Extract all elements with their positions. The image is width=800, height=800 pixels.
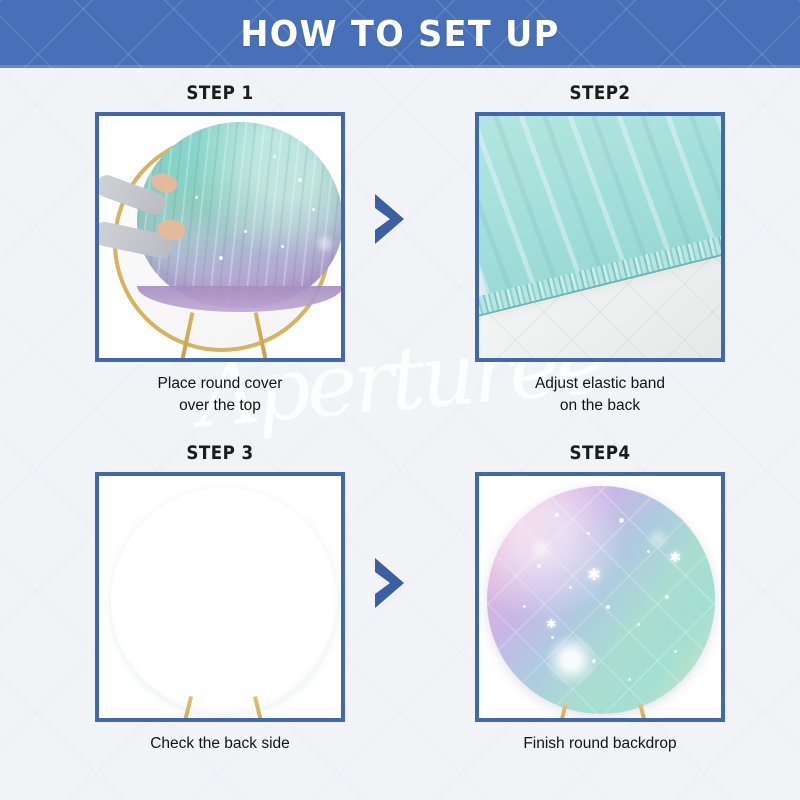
photo-finished-round-backdrop: ✱ ✱ ✱ [479, 476, 721, 718]
star-glint-icon: ✱ [587, 568, 600, 584]
step-title-1: STEP 1 [88, 82, 352, 104]
infographic-page: HOW TO SET UP Aperturee STEP 1 [0, 0, 800, 800]
gradient-fabric-cover [137, 122, 341, 308]
light-glow [545, 634, 597, 686]
step-image-frame-1 [95, 112, 345, 362]
arrow-step3-to-step4 [373, 556, 407, 610]
step-caption-2: Adjust elastic band on the back [450, 373, 750, 417]
sparkle-glow [651, 532, 665, 546]
photo-hands-pulling-cover-over-hoop [99, 116, 341, 358]
sparkle-dot [244, 230, 247, 233]
sparkle-dot [219, 256, 223, 260]
step-title-2: STEP2 [468, 82, 732, 104]
star-glint-icon: ✱ [669, 550, 681, 564]
star-glint-icon: ✱ [546, 618, 556, 630]
step-image-frame-4: ✱ ✱ ✱ [475, 472, 725, 722]
step-card-1: STEP 1 [70, 82, 370, 417]
sparkle-dot [273, 155, 276, 158]
photo-elastic-band-closeup [479, 116, 721, 358]
sparkle-dot [637, 623, 640, 626]
sparkle-glow [533, 541, 549, 557]
sparkle-dot [619, 518, 624, 523]
page-header: HOW TO SET UP [0, 0, 800, 68]
step-card-2: STEP2 Adjust elastic band on the back [450, 82, 750, 417]
step-image-frame-3 [95, 472, 345, 722]
sparkle-dot [628, 678, 631, 681]
sparkle-dot [587, 532, 590, 535]
sparkle-dot [537, 564, 541, 568]
photo-backdrop-back-side [99, 476, 341, 718]
sparkle-dot [674, 650, 677, 653]
steps-grid: STEP 1 [0, 68, 800, 800]
finished-backdrop-disc: ✱ ✱ ✱ [487, 486, 715, 714]
sparkle-dot [523, 605, 526, 608]
sparkle-dot [665, 595, 669, 599]
step-caption-4: Finish round backdrop [450, 733, 750, 755]
step-caption-1: Place round cover over the top [70, 373, 370, 417]
sparkle-dot [298, 178, 302, 182]
arrow-step1-to-step2 [373, 192, 407, 246]
sparkle-dot [647, 550, 650, 553]
sparkle-dot [281, 245, 284, 248]
sparkle-dot [569, 586, 572, 589]
step-card-4: STEP4 [450, 442, 750, 755]
sparkle-dot [606, 605, 610, 609]
step-caption-3: Check the back side [70, 733, 370, 755]
sparkle-dot [312, 208, 315, 211]
sparkle-dot [555, 513, 559, 517]
step-image-frame-2 [475, 112, 725, 362]
step-title-4: STEP4 [468, 442, 732, 464]
backdrop-back-disc [111, 488, 337, 714]
step-title-3: STEP 3 [88, 442, 352, 464]
white-back-surface [114, 491, 334, 711]
step-card-3: STEP 3 Check the back side [70, 442, 370, 755]
page-title: HOW TO SET UP [28, 0, 772, 68]
sparkle-glow [318, 237, 332, 251]
sparkle-dot [195, 196, 198, 199]
